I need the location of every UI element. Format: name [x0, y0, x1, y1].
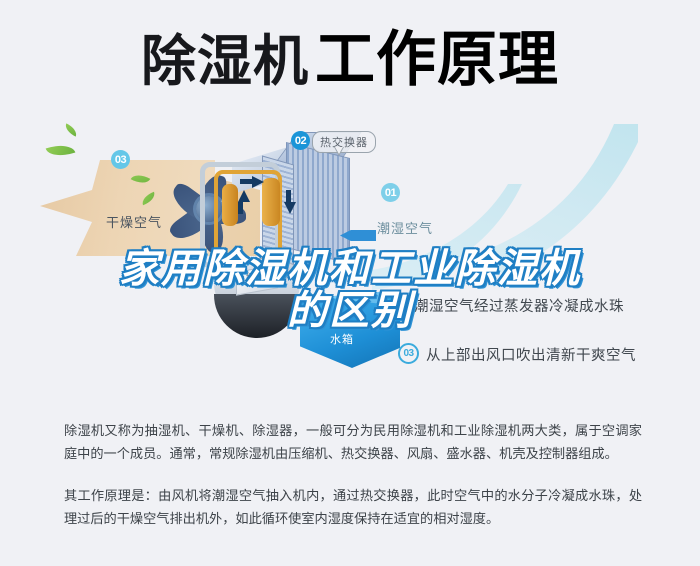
paragraph-1: 除湿机又称为抽湿机、干燥机、除湿器，一般可分为民用除湿机和工业除湿机两大类，属于…: [0, 420, 700, 466]
flow-arrow-right-stem: [240, 179, 253, 184]
badge-03-step: 03: [398, 343, 419, 364]
badge-03-dry-air: 03: [111, 150, 130, 169]
principle-diagram: 压缩机 水箱 03 干燥空气 02 热交换器 01 潮湿空气 02 潮湿空气经过…: [0, 118, 700, 393]
infographic-page: 除湿机工作原理: [0, 0, 700, 566]
step-03-caption: 从上部出风口吹出清新干爽空气: [426, 344, 636, 365]
flow-arrow-down-stem: [286, 190, 291, 203]
badge-02-heat-exchanger: 02: [291, 131, 310, 150]
badge-01-moist-air: 01: [381, 183, 400, 202]
moist-air-label: 潮湿空气: [377, 218, 433, 237]
heat-exchanger-callout: 热交换器: [312, 131, 376, 153]
paragraph-2: 其工作原理是：由风机将潮湿空气抽入机内，通过热交换器，此时空气中的水分子冷凝成水…: [0, 485, 700, 531]
description-block: 除湿机又称为抽湿机、干燥机、除湿器，一般可分为民用除湿机和工业除湿机两大类，属于…: [0, 420, 700, 531]
flow-arrow-up-icon: [238, 190, 250, 202]
cylinder-graphic: [222, 184, 238, 226]
paragraph-2-lead: 其工作原理是：: [64, 489, 158, 504]
page-title-part1: 除湿机: [141, 29, 309, 93]
page-title-part2: 工作原理: [315, 25, 559, 95]
flow-arrow-up-stem: [238, 202, 243, 214]
leaf-icon: [46, 140, 76, 161]
dry-air-label: 干燥空气: [106, 212, 162, 231]
leaf-icon: [63, 123, 79, 136]
flow-arrow-right-icon: [252, 176, 264, 188]
watermark-line-1: 家用除湿机和工业除湿机: [119, 246, 581, 292]
flow-arrow-down-icon: [284, 202, 296, 214]
cylinder-graphic-2: [262, 178, 280, 226]
callout-pointer-icon: [334, 147, 344, 156]
watermark-line-2: 的区别: [0, 290, 700, 332]
page-title: 除湿机工作原理: [0, 30, 700, 90]
watermark-overlay: 家用除湿机和工业除湿机 的区别: [0, 248, 700, 332]
